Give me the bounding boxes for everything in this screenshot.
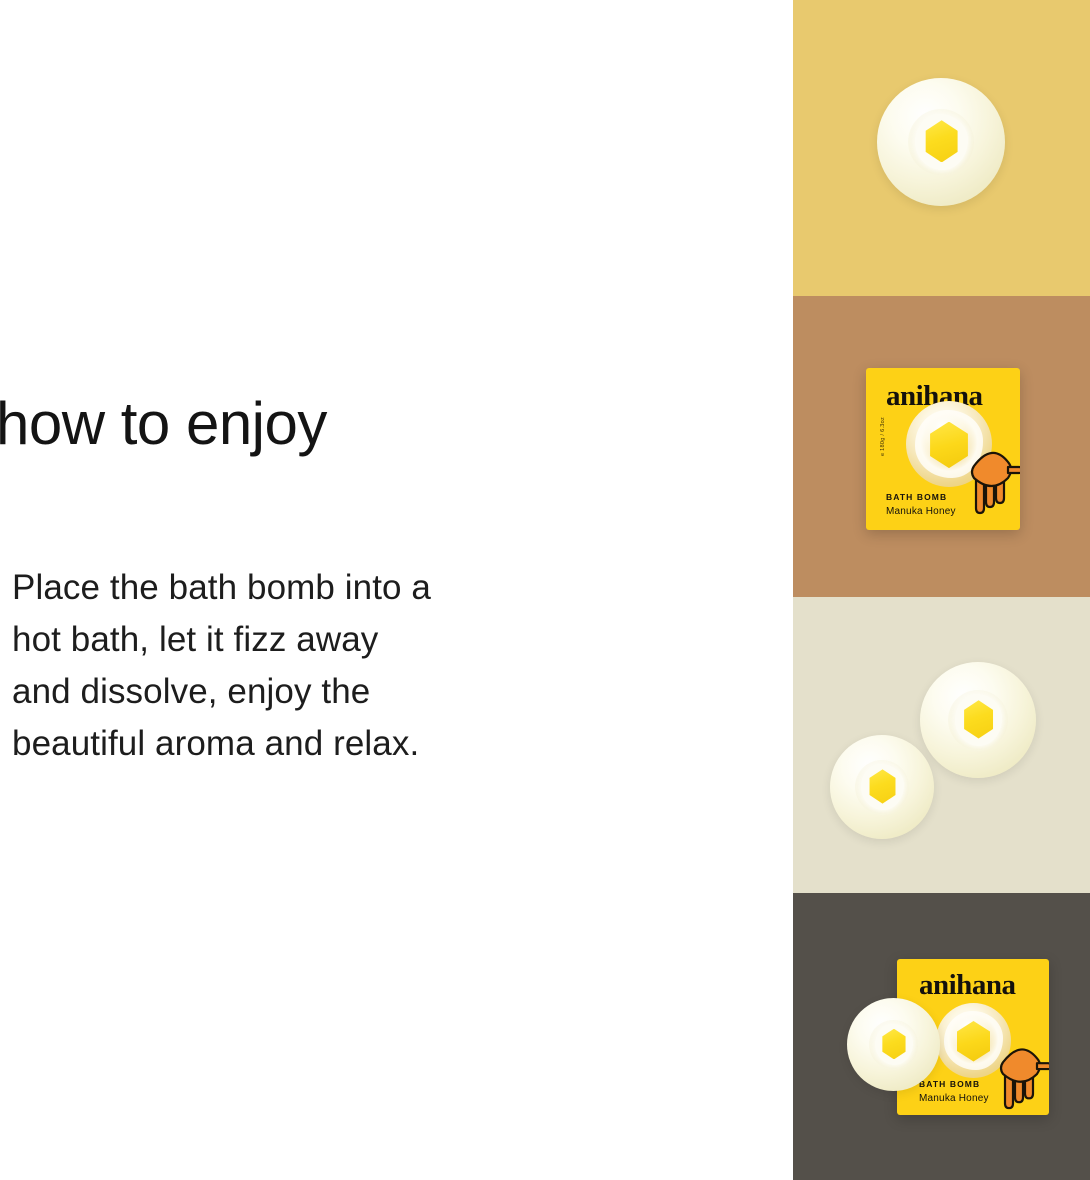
paragraph-line-1: Place the bath bomb into a (12, 562, 652, 614)
product-box: anihana e 180g / 6.3oz (866, 368, 1020, 530)
bath-bomb-image (877, 78, 1005, 206)
product-image-column: anihana e 180g / 6.3oz (793, 0, 1090, 1180)
product-scent-label: Manuka Honey (886, 506, 956, 517)
product-image-panel-gold[interactable] (793, 0, 1090, 296)
page-title: how to enjoy (0, 392, 327, 455)
instructions-pane: how to enjoy Place the bath bomb into a … (0, 0, 793, 1180)
paragraph-line-2: hot bath, let it fizz away (12, 614, 652, 666)
honey-dipper-icon (991, 1033, 1049, 1111)
product-scent-label: Manuka Honey (919, 1093, 989, 1104)
product-image-panel-beige[interactable] (793, 597, 1090, 893)
bath-bomb-image-small (830, 735, 934, 839)
bath-bomb-image (847, 998, 940, 1091)
page-root: how to enjoy Place the bath bomb into a … (0, 0, 1090, 1180)
product-image-panel-charcoal[interactable]: anihana (793, 893, 1090, 1180)
product-type-label: BATH BOMB (886, 492, 947, 502)
product-type-label: BATH BOMB (919, 1079, 980, 1089)
net-weight-label: e 180g / 6.3oz (880, 417, 886, 456)
paragraph-line-4: beautiful aroma and relax. (12, 718, 652, 770)
paragraph-line-3: and dissolve, enjoy the (12, 666, 652, 718)
instructions-paragraph: Place the bath bomb into a hot bath, let… (12, 562, 652, 770)
bath-bomb-image-large (920, 662, 1036, 778)
brand-wordmark: anihana (919, 969, 1015, 1002)
honey-dipper-icon (962, 436, 1020, 516)
product-image-panel-tan[interactable]: anihana e 180g / 6.3oz (793, 296, 1090, 597)
